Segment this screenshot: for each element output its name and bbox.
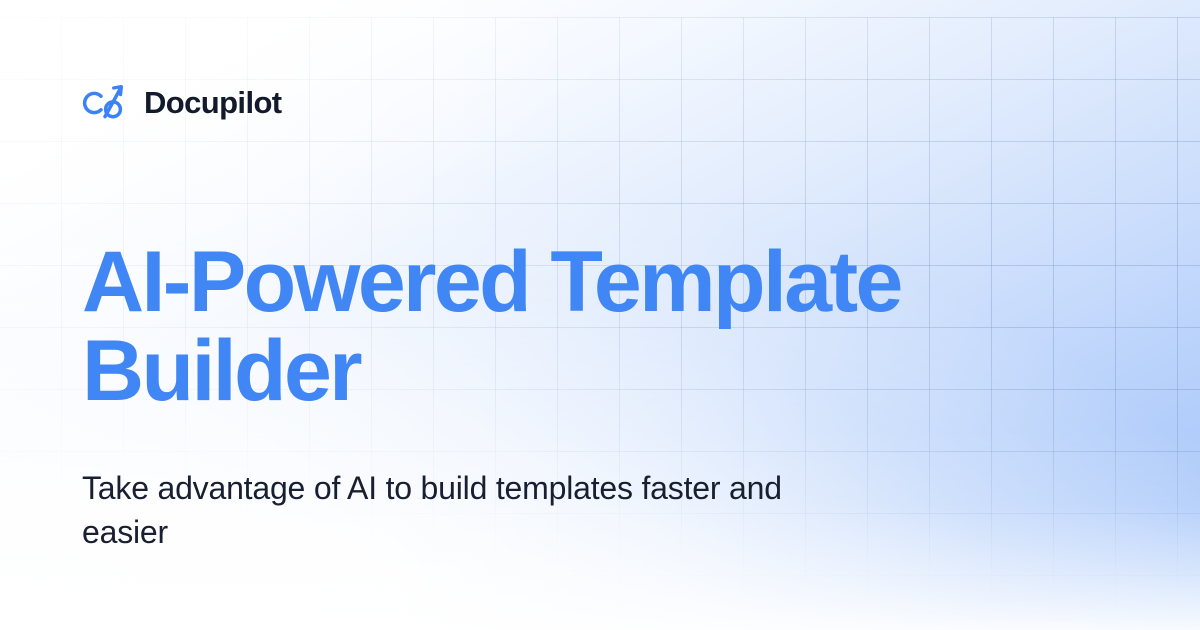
docupilot-logo-mark-icon [82, 82, 129, 122]
page-subtitle: Take advantage of AI to build templates … [82, 466, 842, 554]
brand-lockup: Docupilot [82, 82, 282, 122]
og-card: Docupilot AI-Powered Template Builder Ta… [0, 0, 1200, 630]
brand-name: Docupilot [144, 87, 282, 118]
page-title: AI-Powered Template Builder [82, 238, 1092, 417]
card-content: Docupilot AI-Powered Template Builder Ta… [0, 0, 1200, 630]
